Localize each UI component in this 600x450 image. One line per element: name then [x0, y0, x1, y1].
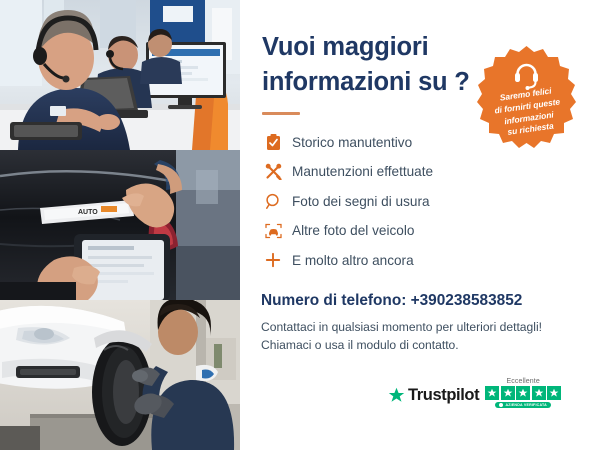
contact-line-2: Chiamaci o usa il modulo di contatto.: [261, 337, 591, 355]
feature-label: Foto dei segni di usura: [292, 194, 430, 209]
feature-item-manutenzioni-effettuate: Manutenzioni effettuate: [260, 158, 580, 186]
feature-item-molto-altro: E molto altro ancora: [260, 246, 580, 274]
contact-instructions: Contattaci in qualsiasi momento per ulte…: [261, 319, 591, 354]
crossed-tools-icon: [260, 162, 286, 182]
page-title-line2: informazioni su ?: [262, 65, 497, 100]
star-filled: [516, 386, 530, 400]
page-title-line1: Vuoi maggiori: [262, 30, 497, 65]
trustpilot-star-icon: [388, 387, 405, 404]
promo-card: AUTO: [0, 0, 600, 450]
title-divider: [262, 112, 300, 115]
call-center-agents-photo: [0, 0, 240, 150]
feature-label: Altre foto del veicolo: [292, 223, 414, 238]
verified-company-badge: AZIENDA VERIFICATA: [495, 402, 550, 408]
check-icon: [499, 403, 503, 407]
info-on-request-badge: Saremo felici di fornirti queste informa…: [470, 44, 583, 157]
trustpilot-brand-text: Trustpilot: [408, 386, 479, 405]
trustpilot-widget[interactable]: Trustpilot Eccellente: [388, 371, 560, 415]
starburst-shape: [477, 46, 576, 148]
trustpilot-rating-word: Eccellente: [507, 378, 540, 385]
feature-item-foto-segni-usura: Foto dei segni di usura: [260, 187, 580, 215]
plus-icon: [260, 250, 286, 270]
phone-number-line[interactable]: Numero di telefono: +390238583852: [261, 292, 522, 310]
star-filled: [485, 386, 499, 400]
star-filled: [547, 386, 561, 400]
trustpilot-stars: [485, 386, 561, 400]
clipboard-check-icon: [260, 132, 286, 152]
car-scan-icon: [260, 221, 286, 241]
feature-label: Manutenzioni effettuate: [292, 164, 433, 179]
trustpilot-rating: Eccellente AZIEND: [485, 378, 561, 409]
car-inspection-photo: AUTO: [0, 150, 240, 300]
feature-label: Storico manutentivo: [292, 135, 412, 150]
feature-item-altre-foto-veicolo: Altre foto del veicolo: [260, 217, 580, 245]
star-filled: [501, 386, 515, 400]
photo-column: AUTO: [0, 0, 240, 450]
svg-text:AUTO: AUTO: [78, 209, 98, 216]
mechanic-wheel-photo: [0, 300, 240, 450]
trustpilot-logo: Trustpilot: [388, 386, 479, 405]
contact-line-1: Contattaci in qualsiasi momento per ulte…: [261, 319, 591, 337]
magnifier-icon: [260, 191, 286, 211]
feature-label: E molto altro ancora: [292, 253, 414, 268]
page-title: Vuoi maggiori informazioni su ?: [262, 30, 497, 100]
verified-company-label: AZIENDA VERIFICATA: [505, 403, 546, 407]
star-filled: [532, 386, 546, 400]
